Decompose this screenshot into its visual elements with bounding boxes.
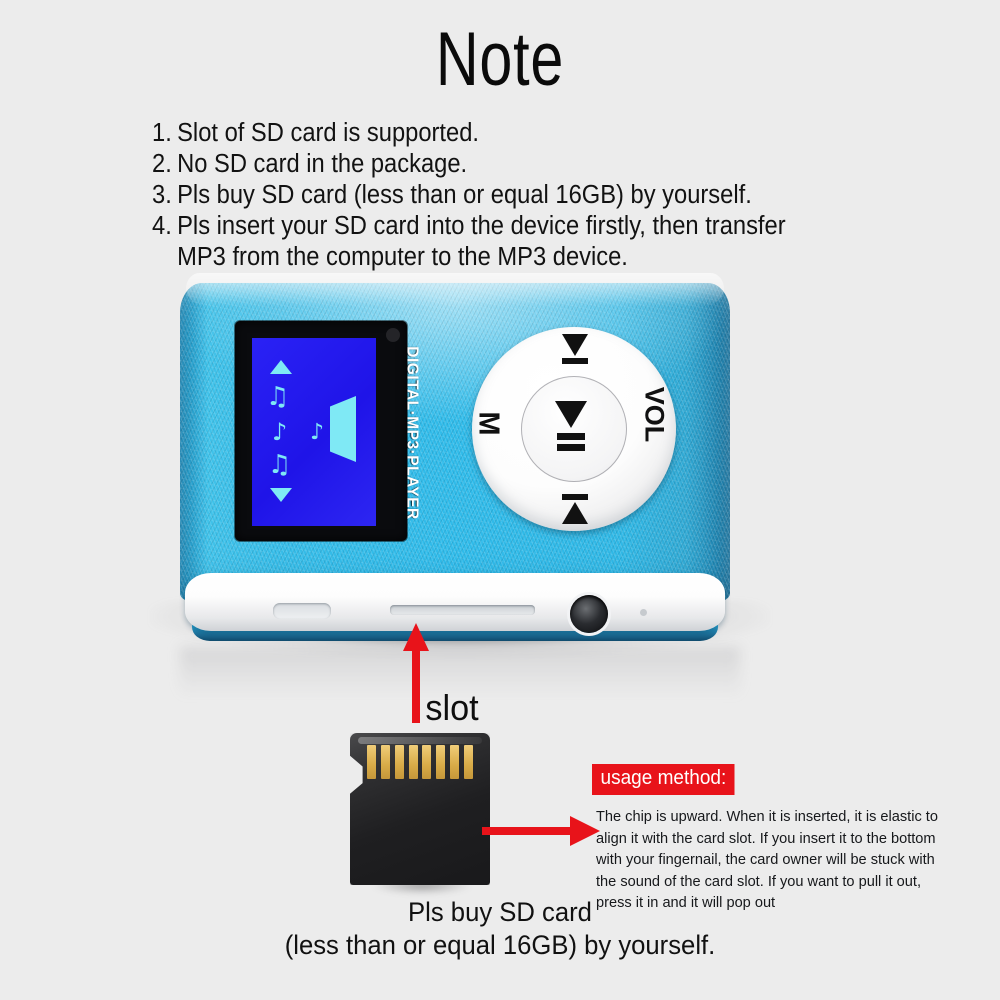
sd-card-contacts bbox=[367, 745, 473, 779]
mp3-player-illustration: ♫ ♪ ♫ ♪ DIGITAL·MP3·PLAYER M VO bbox=[0, 255, 1000, 695]
previous-track-icon[interactable] bbox=[555, 490, 595, 524]
sd-contact-pin bbox=[367, 745, 376, 779]
list-item-number: 2. bbox=[152, 149, 177, 180]
page-title: Note bbox=[110, 20, 890, 100]
list-item: 4. Pls insert your SD card into the devi… bbox=[152, 211, 859, 242]
note-list: 1. Slot of SD card is supported. 2. No S… bbox=[152, 118, 859, 273]
control-wheel[interactable]: M VOL bbox=[466, 321, 682, 537]
headphone-jack-icon bbox=[570, 595, 608, 633]
sd-contact-pin bbox=[422, 745, 431, 779]
list-item-number: 3. bbox=[152, 180, 177, 211]
list-item: 3. Pls buy SD card (less than or equal 1… bbox=[152, 180, 859, 211]
volume-button-label[interactable]: VOL bbox=[639, 387, 670, 443]
sd-card-illustration bbox=[350, 733, 490, 885]
lcd-content: ♫ ♪ ♫ ♪ bbox=[252, 338, 376, 526]
menu-button-label[interactable]: M bbox=[472, 411, 505, 435]
list-item: 1. Slot of SD card is supported. bbox=[152, 118, 859, 149]
usb-port-icon bbox=[273, 603, 331, 619]
device-bottom-panel bbox=[185, 573, 725, 631]
list-item-number: 4. bbox=[152, 211, 177, 242]
volume-indicator-icon bbox=[330, 396, 356, 462]
device-top-highlight bbox=[186, 273, 724, 307]
scroll-down-icon bbox=[270, 488, 292, 502]
list-item: 2. No SD card in the package. bbox=[152, 149, 859, 180]
list-item-text: Pls buy SD card (less than or equal 16GB… bbox=[177, 180, 859, 211]
brand-label: DIGITAL·MP3·PLAYER bbox=[399, 329, 425, 537]
sd-card-caption-line2: (less than or equal 16GB) by yourself. bbox=[25, 929, 975, 962]
sd-card-highlight bbox=[358, 737, 482, 744]
lcd-display-area: ♫ ♪ ♫ ♪ bbox=[252, 338, 376, 526]
product-note-graphic: Note 1. Slot of SD card is supported. 2.… bbox=[0, 0, 1000, 1000]
play-pause-icon[interactable] bbox=[546, 401, 602, 453]
list-item-text: Pls insert your SD card into the device … bbox=[177, 211, 859, 242]
sd-card-caption: Pls buy SD card (less than or equal 16GB… bbox=[0, 896, 1000, 962]
usage-pointer-arrow-icon bbox=[482, 816, 600, 846]
sd-contact-pin bbox=[464, 745, 473, 779]
sd-card-caption-line1: Pls buy SD card bbox=[25, 896, 975, 929]
sd-contact-pin bbox=[450, 745, 459, 779]
list-item-number: 1. bbox=[152, 118, 177, 149]
sd-contact-pin bbox=[395, 745, 404, 779]
sd-card-slot bbox=[390, 605, 535, 615]
next-track-icon[interactable] bbox=[555, 334, 595, 368]
list-item-text: Slot of SD card is supported. bbox=[177, 118, 859, 149]
sd-contact-pin bbox=[436, 745, 445, 779]
now-playing-note-icon: ♪ bbox=[310, 422, 324, 444]
sd-contact-pin bbox=[409, 745, 418, 779]
mp3-player-device: ♫ ♪ ♫ ♪ DIGITAL·MP3·PLAYER M VO bbox=[180, 273, 730, 633]
reset-pinhole-icon bbox=[640, 609, 647, 616]
lcd-screen: ♫ ♪ ♫ ♪ bbox=[235, 321, 407, 541]
music-note-icon: ♪ bbox=[272, 420, 287, 444]
slot-label: slot bbox=[425, 687, 478, 729]
music-note-icon: ♫ bbox=[268, 452, 291, 478]
usage-method-badge: usage method: bbox=[592, 764, 735, 795]
list-item-text: No SD card in the package. bbox=[177, 149, 859, 180]
scroll-up-icon bbox=[270, 360, 292, 374]
screen-corner-dot bbox=[386, 328, 400, 342]
music-note-icon: ♫ bbox=[266, 384, 289, 410]
sd-contact-pin bbox=[381, 745, 390, 779]
brand-label-text: DIGITAL·MP3·PLAYER bbox=[403, 346, 421, 519]
